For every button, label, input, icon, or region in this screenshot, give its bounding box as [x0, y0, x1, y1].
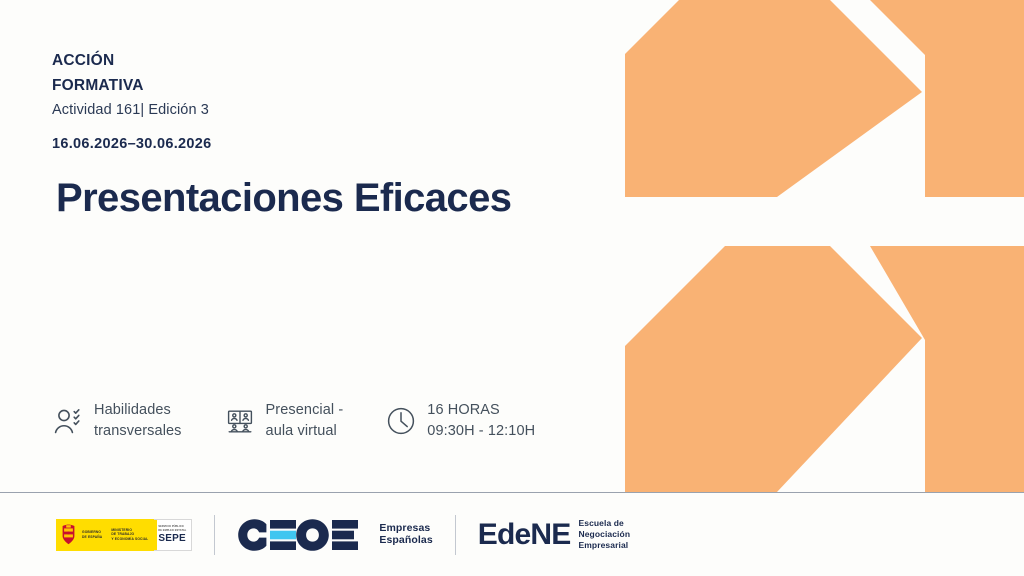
ceoe-tagline: Empresas Españolas [379, 523, 432, 547]
poster-canvas: ACCIÓN FORMATIVA Actividad 161| Edición … [0, 0, 1024, 576]
gobierno-de-espana-logo: GOBIERNO DE ESPAÑA MINISTERIO DE TRABAJO… [56, 519, 192, 551]
meta-label-skills: Habilidades transversales [94, 400, 182, 441]
meta-item-modality: Presencial - aula virtual [224, 400, 344, 441]
edene-tagline-line-2: Negociación [578, 529, 630, 540]
sepe-subtitle: SERVICIO PÚBLICO DE EMPLEO ESTATAL [158, 525, 186, 532]
page-title: Presentaciones Eficaces [56, 176, 511, 221]
eyebrow-line-1: ACCIÓN [52, 48, 209, 73]
edene-tagline-line-1: Escuela de [578, 518, 630, 529]
virtual-classroom-icon [224, 405, 256, 437]
activity-label: Actividad 161| Edición 3 [52, 99, 209, 122]
edene-wordmark: EdeNE [478, 520, 571, 550]
meta-item-skills: Habilidades transversales [52, 400, 182, 441]
gov-text-block-1: GOBIERNO DE ESPAÑA [82, 530, 102, 539]
meta-duration-line-1: 16 HORAS [427, 400, 535, 421]
person-check-icon [52, 405, 84, 437]
meta-item-duration: 16 HORAS 09:30H - 12:10H [385, 400, 535, 441]
edene-tagline-line-3: Empresarial [578, 540, 630, 551]
eyebrow-block: ACCIÓN FORMATIVA Actividad 161| Edición … [52, 48, 209, 123]
gov-line-2: DE ESPAÑA [82, 535, 102, 539]
footer-bar: GOBIERNO DE ESPAÑA MINISTERIO DE TRABAJO… [0, 493, 1024, 576]
meta-row: Habilidades transversales [52, 400, 535, 441]
eyebrow-line-2: FORMATIVA [52, 73, 209, 98]
meta-modality-line-1: Presencial - [266, 400, 344, 421]
meta-skills-line-1: Habilidades [94, 400, 182, 421]
meta-skills-line-2: transversales [94, 421, 182, 442]
sepe-subtitle-line-2: DE EMPLEO ESTATAL [158, 529, 186, 532]
date-range: 16.06.2026–30.06.2026 [52, 136, 212, 152]
pattern-shape-1 [625, 0, 922, 197]
footer-separator-2 [455, 515, 456, 555]
gov-text-lines: GOBIERNO DE ESPAÑA MINISTERIO DE TRABAJO… [82, 528, 148, 541]
edene-tagline: Escuela de Negociación Empresarial [578, 518, 630, 551]
footer-logos: GOBIERNO DE ESPAÑA MINISTERIO DE TRABAJO… [56, 515, 630, 555]
spain-coat-of-arms-icon [61, 524, 76, 545]
pattern-shape-6 [870, 246, 1024, 492]
gov-text-block-2: MINISTERIO DE TRABAJO Y ECONOMÍA SOCIAL [111, 528, 148, 541]
ceoe-logo: Empresas Españolas [237, 518, 432, 552]
meta-label-duration: 16 HORAS 09:30H - 12:10H [427, 400, 535, 441]
content-panel: ACCIÓN FORMATIVA Actividad 161| Edición … [52, 0, 612, 492]
clock-icon [385, 405, 417, 437]
sepe-logo: SERVICIO PÚBLICO DE EMPLEO ESTATAL SEPE [154, 519, 192, 551]
ceoe-wordmark-icon [237, 518, 372, 552]
meta-duration-line-2: 09:30H - 12:10H [427, 421, 535, 442]
footer-separator-1 [214, 515, 215, 555]
edene-logo: EdeNE Escuela de Negociación Empresarial [478, 518, 630, 551]
gov-line-5: Y ECONOMÍA SOCIAL [111, 537, 148, 541]
meta-modality-line-2: aula virtual [266, 421, 344, 442]
geometric-pattern [625, 0, 1024, 492]
gov-yellow-band: GOBIERNO DE ESPAÑA MINISTERIO DE TRABAJO… [56, 519, 154, 551]
ceoe-tagline-line-2: Españolas [379, 535, 432, 547]
ceoe-tagline-line-1: Empresas [379, 523, 432, 535]
gov-line-1: GOBIERNO [82, 530, 102, 534]
geometric-pattern-svg [625, 0, 1024, 492]
meta-label-modality: Presencial - aula virtual [266, 400, 344, 441]
sepe-wordmark: SEPE [158, 533, 185, 544]
